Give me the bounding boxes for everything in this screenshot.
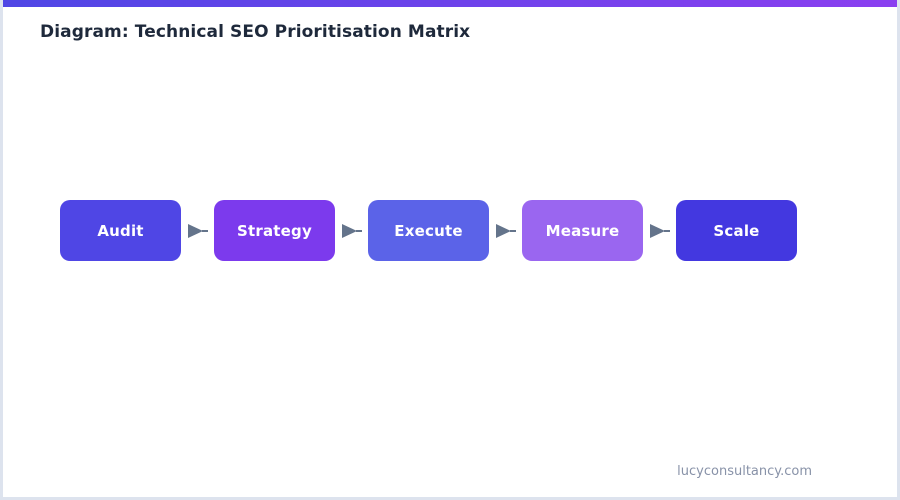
arrow-right-icon [181,200,214,261]
flow-node-strategy[interactable]: Strategy [214,200,335,261]
top-accent-bar [0,0,900,7]
flow-node-label: Strategy [237,222,312,240]
arrow-right-icon [335,200,368,261]
flow-node-audit[interactable]: Audit [60,200,181,261]
flow-node-measure[interactable]: Measure [522,200,643,261]
flow-node-scale[interactable]: Scale [676,200,797,261]
flow-node-label: Execute [394,222,462,240]
process-flow-diagram: AuditStrategyExecuteMeasureScale [60,200,797,261]
page-title: Diagram: Technical SEO Prioritisation Ma… [40,22,470,42]
flow-node-label: Measure [546,222,620,240]
diagram-page: Diagram: Technical SEO Prioritisation Ma… [0,0,900,500]
arrow-right-icon [489,200,522,261]
flow-node-label: Audit [97,222,143,240]
flow-node-execute[interactable]: Execute [368,200,489,261]
arrow-right-icon [643,200,676,261]
flow-node-label: Scale [713,222,759,240]
footer-website-url: lucyconsultancy.com [677,464,812,479]
